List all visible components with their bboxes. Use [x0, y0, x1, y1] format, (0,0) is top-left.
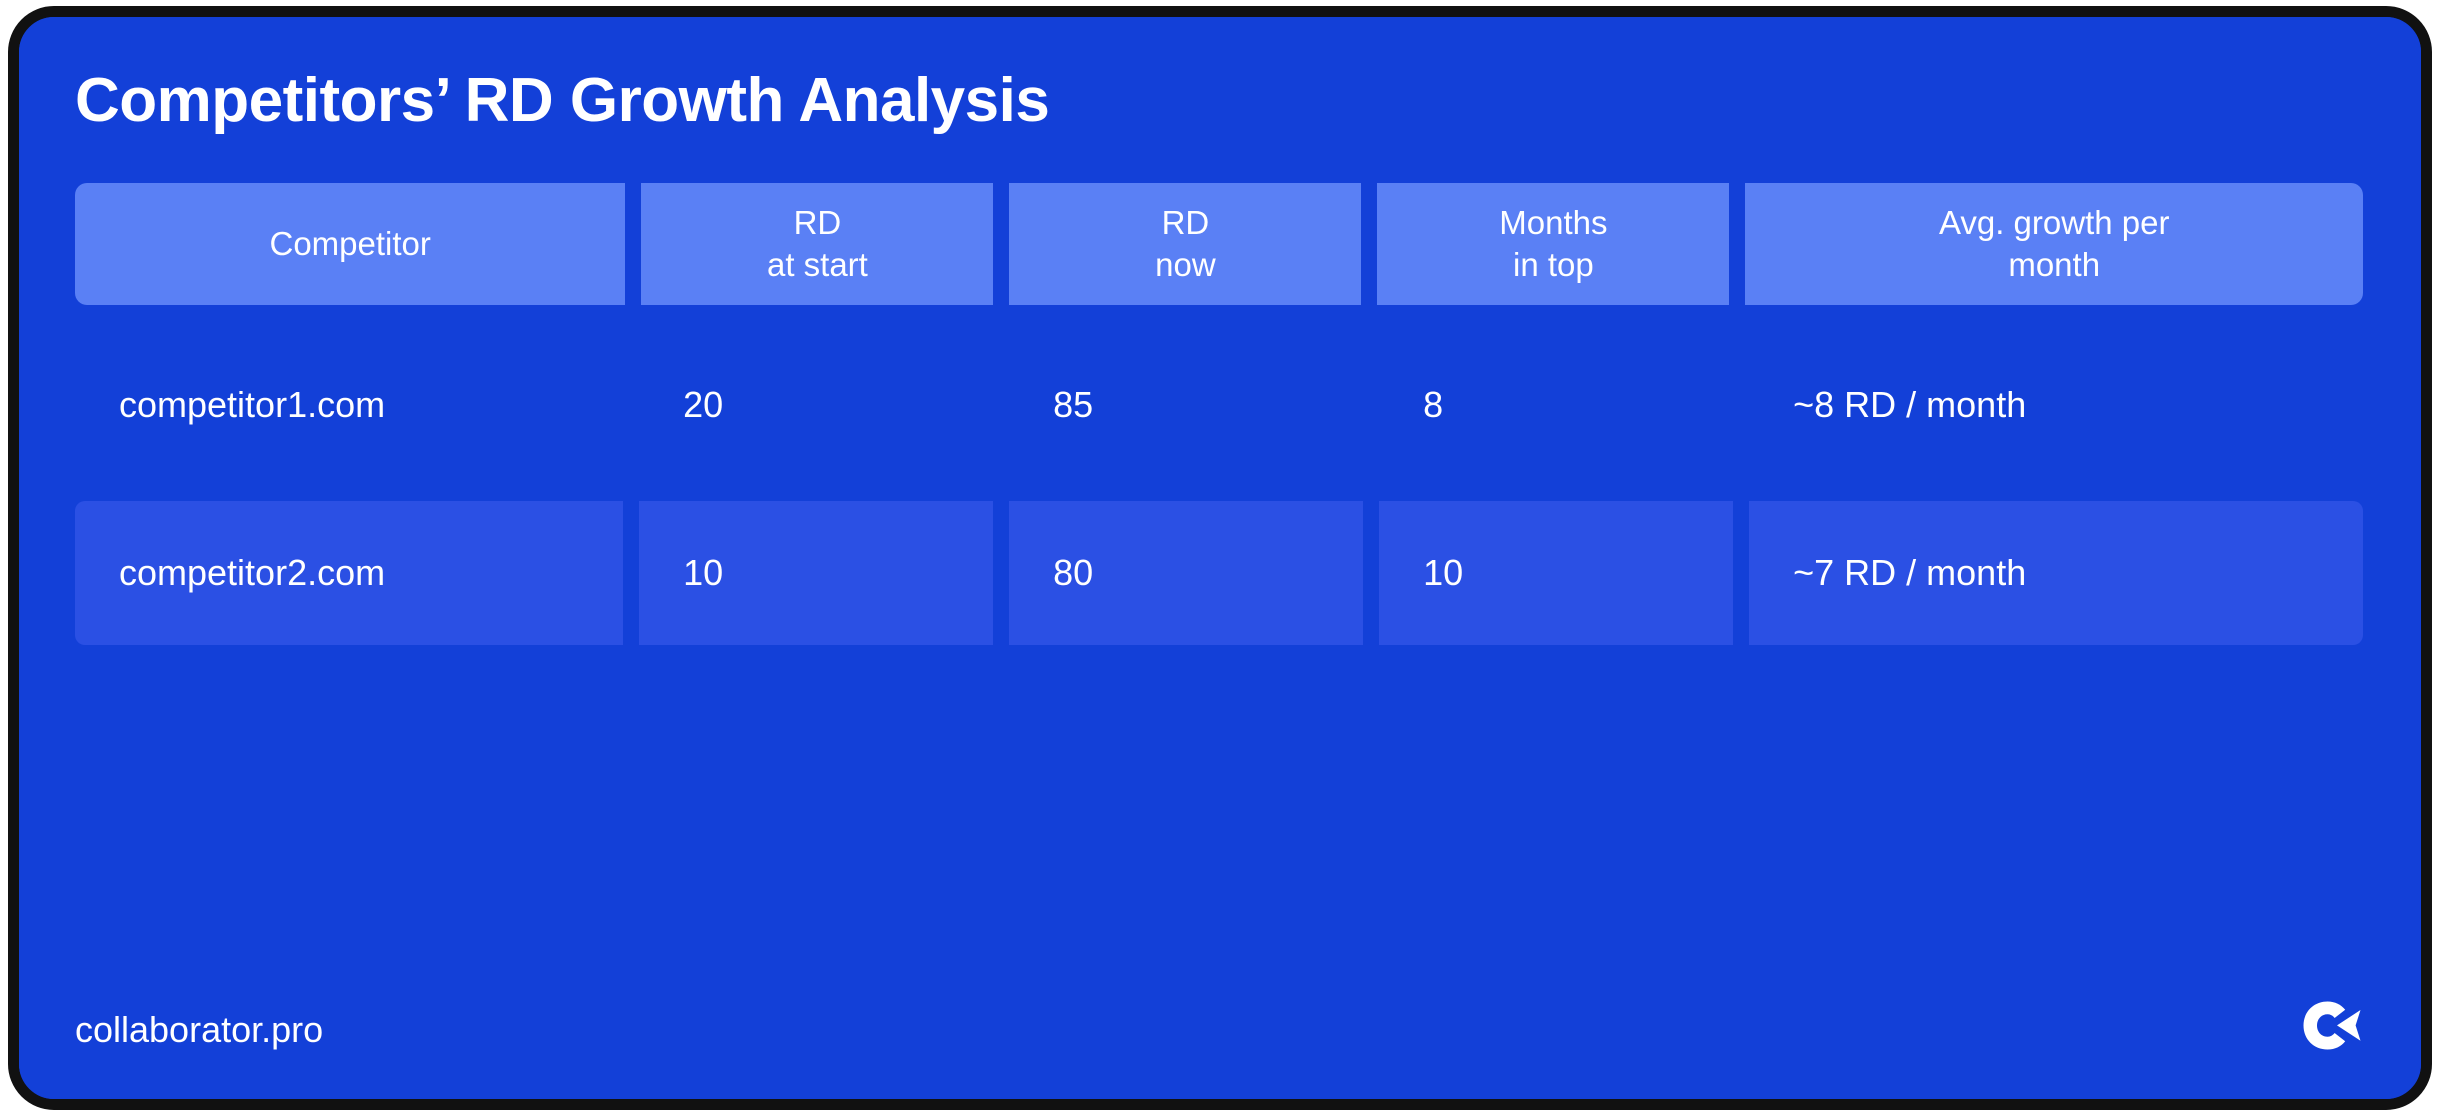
table-row: competitor1.com 20 85 8 ~8 RD / month	[75, 333, 2363, 477]
cell-months-in-top: 10	[1379, 501, 1733, 645]
card-frame: Competitors’ RD Growth Analysis Competit…	[8, 6, 2432, 1110]
infographic-card: Competitors’ RD Growth Analysis Competit…	[19, 17, 2421, 1099]
cell-rd-now: 80	[1009, 501, 1363, 645]
cell-rd-now: 85	[1009, 333, 1363, 477]
column-header-rd-at-start: RD at start	[641, 183, 993, 305]
column-header-avg-growth-per-month: Avg. growth per month	[1745, 183, 2363, 305]
cell-avg-growth-per-month: ~7 RD / month	[1749, 501, 2363, 645]
table-row: competitor2.com 10 80 10 ~7 RD / month	[75, 501, 2363, 645]
column-header-months-in-top: Months in top	[1377, 183, 1729, 305]
footer-brand-label: collaborator.pro	[75, 1009, 323, 1051]
rd-growth-table: Competitor RD at start RD now Months in …	[75, 183, 2363, 645]
collaborator-c-arrow-logo-icon	[2301, 999, 2363, 1055]
column-header-rd-now: RD now	[1009, 183, 1361, 305]
cell-months-in-top: 8	[1379, 333, 1733, 477]
cell-competitor: competitor2.com	[75, 501, 623, 645]
cell-rd-at-start: 20	[639, 333, 993, 477]
column-header-competitor: Competitor	[75, 183, 625, 305]
cell-avg-growth-per-month: ~8 RD / month	[1749, 333, 2363, 477]
cell-rd-at-start: 10	[639, 501, 993, 645]
table-header-row: Competitor RD at start RD now Months in …	[75, 183, 2363, 305]
page-title: Competitors’ RD Growth Analysis	[75, 65, 1049, 136]
cell-competitor: competitor1.com	[75, 333, 623, 477]
